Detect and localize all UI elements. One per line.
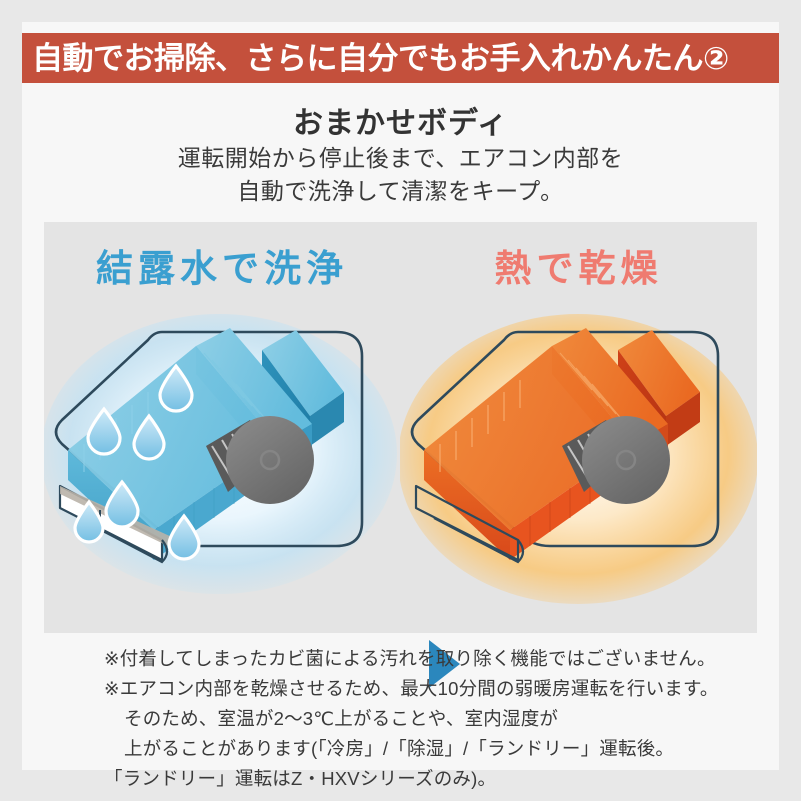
- infographic-page: 自動でお掃除、さらに自分でもお手入れかんたん② おまかせボディ 運転開始から停止…: [0, 0, 801, 801]
- panel-label-drying: 熱で乾燥: [400, 238, 757, 292]
- lead-line-1: 運転開始から停止後まで、エアコン内部を: [0, 142, 801, 175]
- footnote-line: そのため、室温が2～3℃上がることや、室内湿度が: [104, 704, 801, 734]
- footnotes: ※付着してしまったカビ菌による汚れを取り除く機能ではございません。 ※エアコン内…: [0, 644, 801, 794]
- footnote-line: 「ランドリー」運転はZ・HXVシリーズのみ)。: [104, 764, 801, 794]
- header-banner-text: 自動でお掃除、さらに自分でもお手入れかんたん②: [22, 43, 729, 74]
- panel-label-cooling: 結露水で洗浄: [44, 238, 400, 292]
- page-title: おまかせボディ: [0, 98, 801, 142]
- lead-line-2: 自動で洗浄して清潔をキープ。: [0, 175, 801, 208]
- cooling-illustration: [44, 294, 400, 624]
- header-banner: 自動でお掃除、さらに自分でもお手入れかんたん②: [22, 33, 779, 83]
- footnote-line: ※エアコン内部を乾燥させるため、最大10分間の弱暖房運転を行います。: [104, 674, 801, 704]
- drying-illustration: [400, 294, 757, 624]
- illustration-panel: 結露水で洗浄 熱で乾燥: [44, 222, 757, 633]
- lead-paragraph: 運転開始から停止後まで、エアコン内部を 自動で洗浄して清潔をキープ。: [0, 142, 801, 209]
- footnote-line: ※付着してしまったカビ菌による汚れを取り除く機能ではございません。: [104, 644, 801, 674]
- footnote-line: 上がることがあります(「冷房」/「除湿」/「ランドリー」運転後。: [104, 734, 801, 764]
